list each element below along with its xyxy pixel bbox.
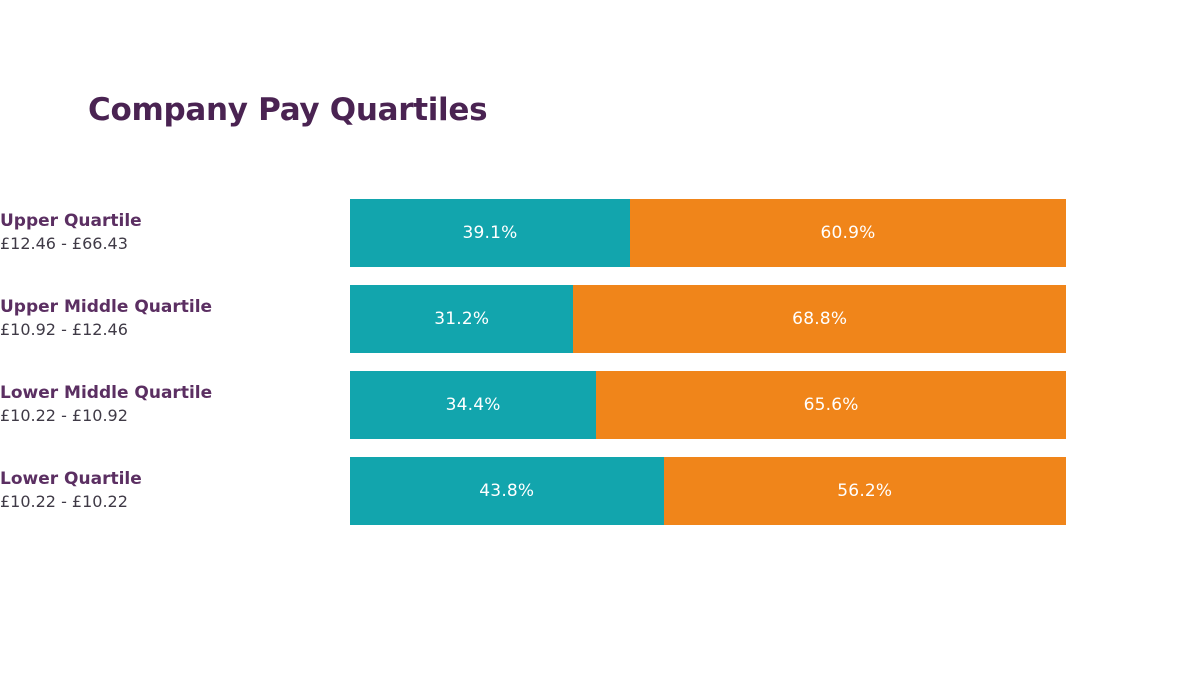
quartile-row-labels: Upper Middle Quartile £10.92 - £12.46 (0, 285, 322, 353)
bar-segment-teal: 39.1% (350, 199, 630, 267)
stacked-bar: 39.1% 60.9% (350, 199, 1066, 267)
stacked-bar: 34.4% 65.6% (350, 371, 1066, 439)
bar-segment-orange: 60.9% (630, 199, 1066, 267)
quartile-rows: Upper Quartile £12.46 - £66.43 39.1% 60.… (0, 199, 1200, 543)
chart-title: Company Pay Quartiles (88, 92, 487, 128)
bar-segment-teal-label: 43.8% (479, 481, 534, 501)
bar-segment-teal: 43.8% (350, 457, 664, 525)
quartile-pay-range: £10.22 - £10.22 (0, 492, 128, 513)
quartile-name: Upper Quartile (0, 211, 142, 232)
quartile-row-labels: Lower Quartile £10.22 - £10.22 (0, 457, 322, 525)
stacked-bar: 31.2% 68.8% (350, 285, 1066, 353)
bar-segment-orange-label: 60.9% (820, 223, 875, 243)
bar-segment-orange: 56.2% (664, 457, 1066, 525)
quartile-row-labels: Upper Quartile £12.46 - £66.43 (0, 199, 322, 267)
bar-segment-teal-label: 34.4% (446, 395, 501, 415)
quartile-name: Lower Quartile (0, 469, 142, 490)
quartile-pay-range: £10.22 - £10.92 (0, 406, 128, 427)
quartile-row: Lower Quartile £10.22 - £10.22 43.8% 56.… (0, 457, 1200, 525)
quartile-row: Upper Middle Quartile £10.92 - £12.46 31… (0, 285, 1200, 353)
quartile-name: Upper Middle Quartile (0, 297, 212, 318)
bar-segment-teal: 34.4% (350, 371, 596, 439)
quartile-pay-range: £10.92 - £12.46 (0, 320, 128, 341)
quartile-name: Lower Middle Quartile (0, 383, 212, 404)
quartile-row: Upper Quartile £12.46 - £66.43 39.1% 60.… (0, 199, 1200, 267)
bar-segment-orange-label: 68.8% (792, 309, 847, 329)
bar-segment-orange-label: 56.2% (837, 481, 892, 501)
bar-segment-teal-label: 31.2% (434, 309, 489, 329)
bar-segment-orange: 65.6% (596, 371, 1066, 439)
stacked-bar: 43.8% 56.2% (350, 457, 1066, 525)
pay-quartiles-chart: Company Pay Quartiles Upper Quartile £12… (0, 0, 1200, 675)
bar-segment-orange-label: 65.6% (804, 395, 859, 415)
quartile-row: Lower Middle Quartile £10.22 - £10.92 34… (0, 371, 1200, 439)
bar-segment-teal-label: 39.1% (462, 223, 517, 243)
quartile-pay-range: £12.46 - £66.43 (0, 234, 128, 255)
bar-segment-teal: 31.2% (350, 285, 573, 353)
quartile-row-labels: Lower Middle Quartile £10.22 - £10.92 (0, 371, 322, 439)
bar-segment-orange: 68.8% (573, 285, 1066, 353)
